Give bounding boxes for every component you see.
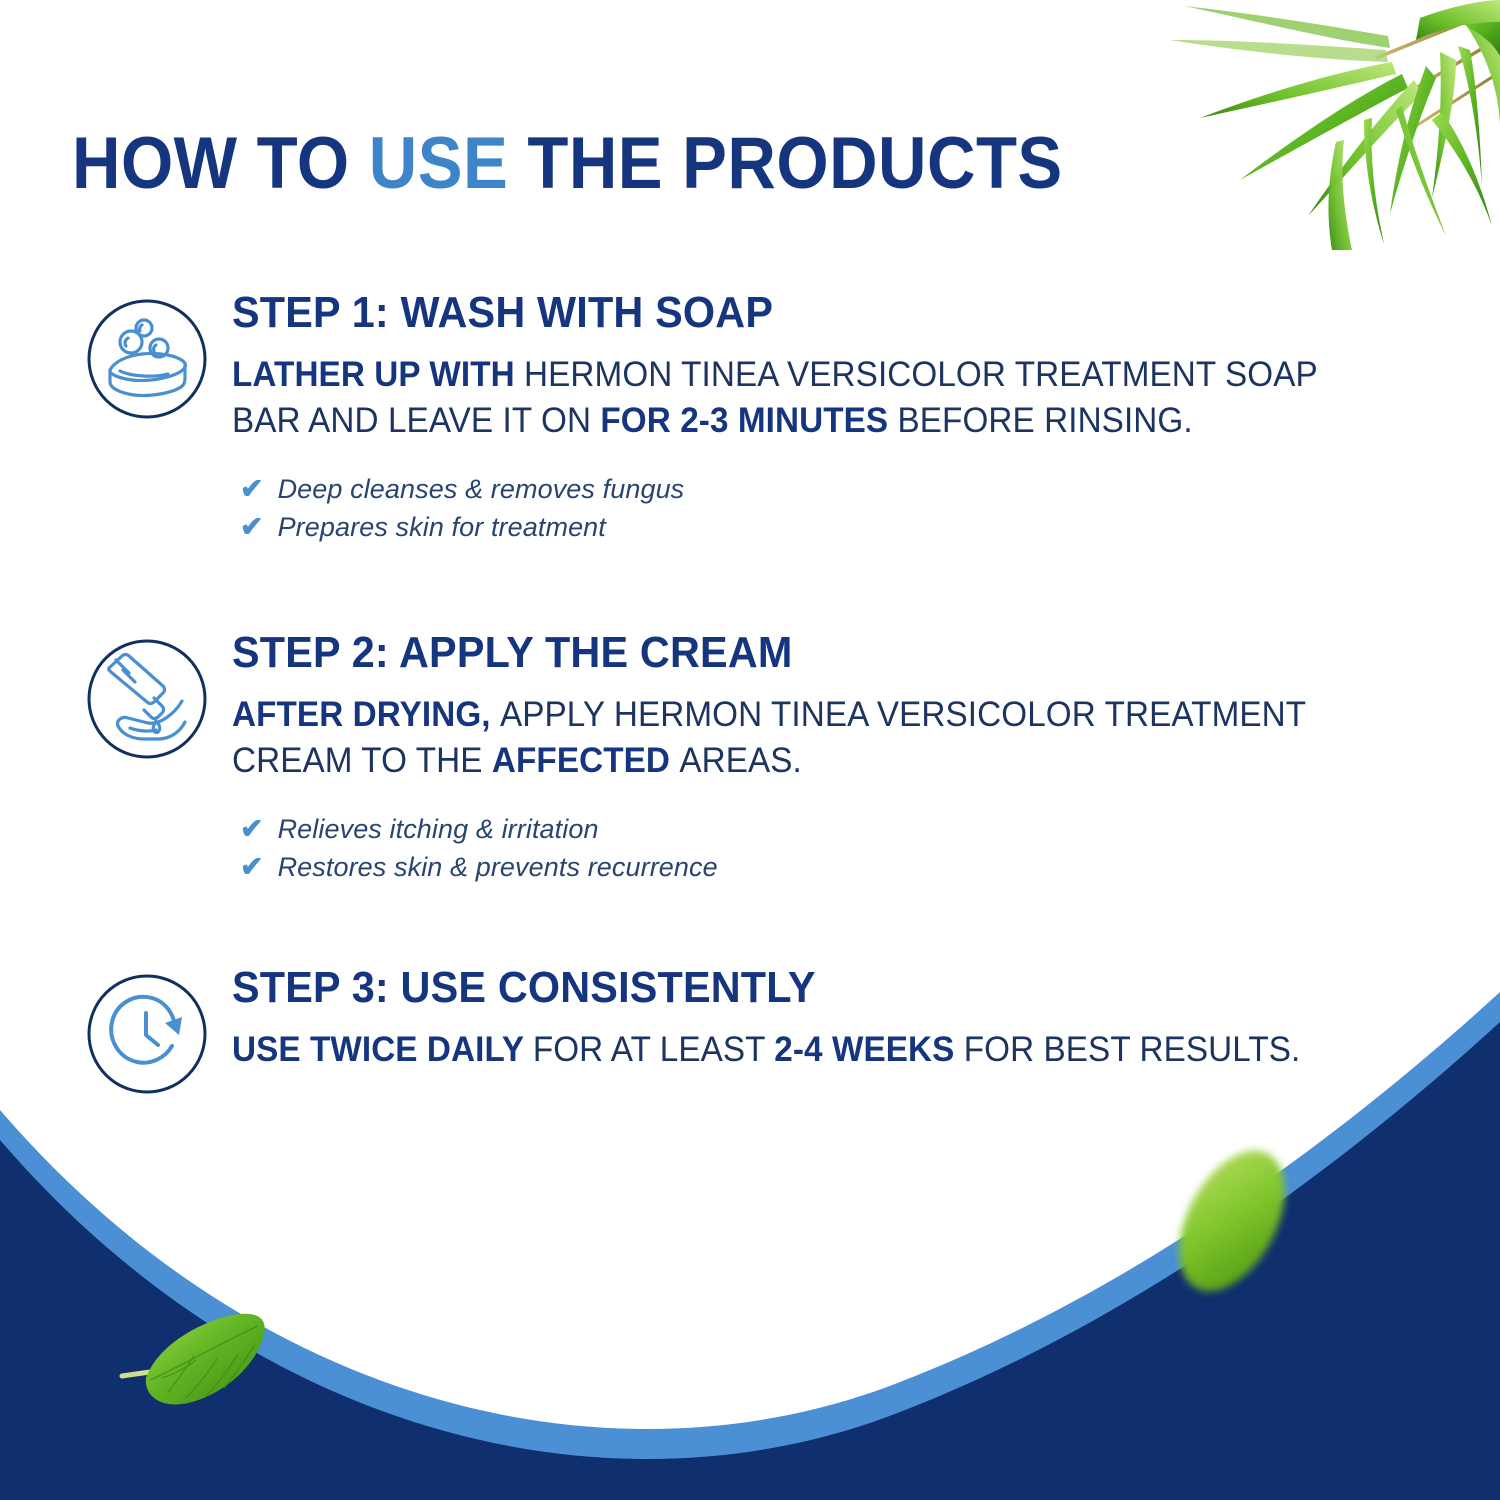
check-icon: ✔	[240, 508, 264, 546]
bullet-text: Deep cleanses & removes fungus	[278, 470, 685, 508]
step-body-3-seg-0: USE TWICE DAILY	[232, 1030, 533, 1069]
step-body-1-seg-3: BEFORE RINSING.	[898, 401, 1193, 440]
bamboo-leaves-icon	[1140, 0, 1500, 250]
soap-bar-icon	[86, 298, 208, 420]
bullet-text: Prepares skin for treatment	[278, 508, 606, 546]
blurred-leaf-icon	[1140, 1135, 1330, 1310]
page-title-accent: USE	[369, 123, 508, 204]
check-icon: ✔	[240, 810, 264, 848]
bullet-text: Restores skin & prevents recurrence	[278, 848, 718, 886]
step-item-2: STEP 2: APPLY THE CREAM AFTER DRYING, AP…	[0, 628, 1500, 963]
list-item: ✔Deep cleanses & removes fungus	[240, 470, 1430, 508]
step-title-2: STEP 2: APPLY THE CREAM	[232, 628, 1358, 678]
step-body-1-seg-0: LATHER UP WITH	[232, 355, 524, 394]
step-body-3-seg-1: FOR AT LEAST	[533, 1030, 774, 1069]
step-bullets-1: ✔Deep cleanses & removes fungus ✔Prepare…	[232, 470, 1430, 546]
list-item: ✔Prepares skin for treatment	[240, 508, 1430, 546]
cream-tube-hand-icon	[86, 638, 208, 760]
clock-arrow-icon	[86, 973, 208, 1095]
bullet-text: Relieves itching & irritation	[278, 810, 599, 848]
page-title-part1: HOW TO	[72, 123, 369, 204]
step-body-2-seg-3: AREAS.	[679, 741, 802, 780]
check-icon: ✔	[240, 848, 264, 886]
list-item: ✔Restores skin & prevents recurrence	[240, 848, 1430, 886]
page-title: HOW TO USE THE PRODUCTS	[72, 125, 1063, 203]
step-title-1: STEP 1: WASH WITH SOAP	[232, 288, 1358, 338]
step-body-2: AFTER DRYING, APPLY HERMON TINEA VERSICO…	[232, 692, 1370, 784]
check-icon: ✔	[240, 470, 264, 508]
poster-root: HOW TO USE THE PRODUCTS	[0, 0, 1500, 1500]
step-item-3: STEP 3: USE CONSISTENTLY USE TWICE DAILY…	[0, 963, 1500, 1083]
step-body-3-seg-3: FOR BEST RESULTS.	[964, 1030, 1301, 1069]
step-title-3: STEP 3: USE CONSISTENTLY	[232, 963, 1358, 1013]
step-body-1: LATHER UP WITH HERMON TINEA VERSICOLOR T…	[232, 352, 1370, 444]
steps-list: STEP 1: WASH WITH SOAP LATHER UP WITH HE…	[0, 288, 1500, 1083]
step-body-3-seg-2: 2-4 WEEKS	[774, 1030, 963, 1069]
page-title-part2: THE PRODUCTS	[508, 123, 1062, 204]
step-item-1: STEP 1: WASH WITH SOAP LATHER UP WITH HE…	[0, 288, 1500, 628]
step-body-3: USE TWICE DAILY FOR AT LEAST 2-4 WEEKS F…	[232, 1027, 1370, 1073]
mint-leaf-icon	[112, 1300, 272, 1420]
step-body-1-seg-2: FOR 2-3 MINUTES	[600, 401, 897, 440]
step-body-2-seg-2: AFFECTED	[492, 741, 679, 780]
step-body-2-seg-0: AFTER DRYING,	[232, 695, 500, 734]
step-bullets-2: ✔Relieves itching & irritation ✔Restores…	[232, 810, 1430, 886]
list-item: ✔Relieves itching & irritation	[240, 810, 1430, 848]
